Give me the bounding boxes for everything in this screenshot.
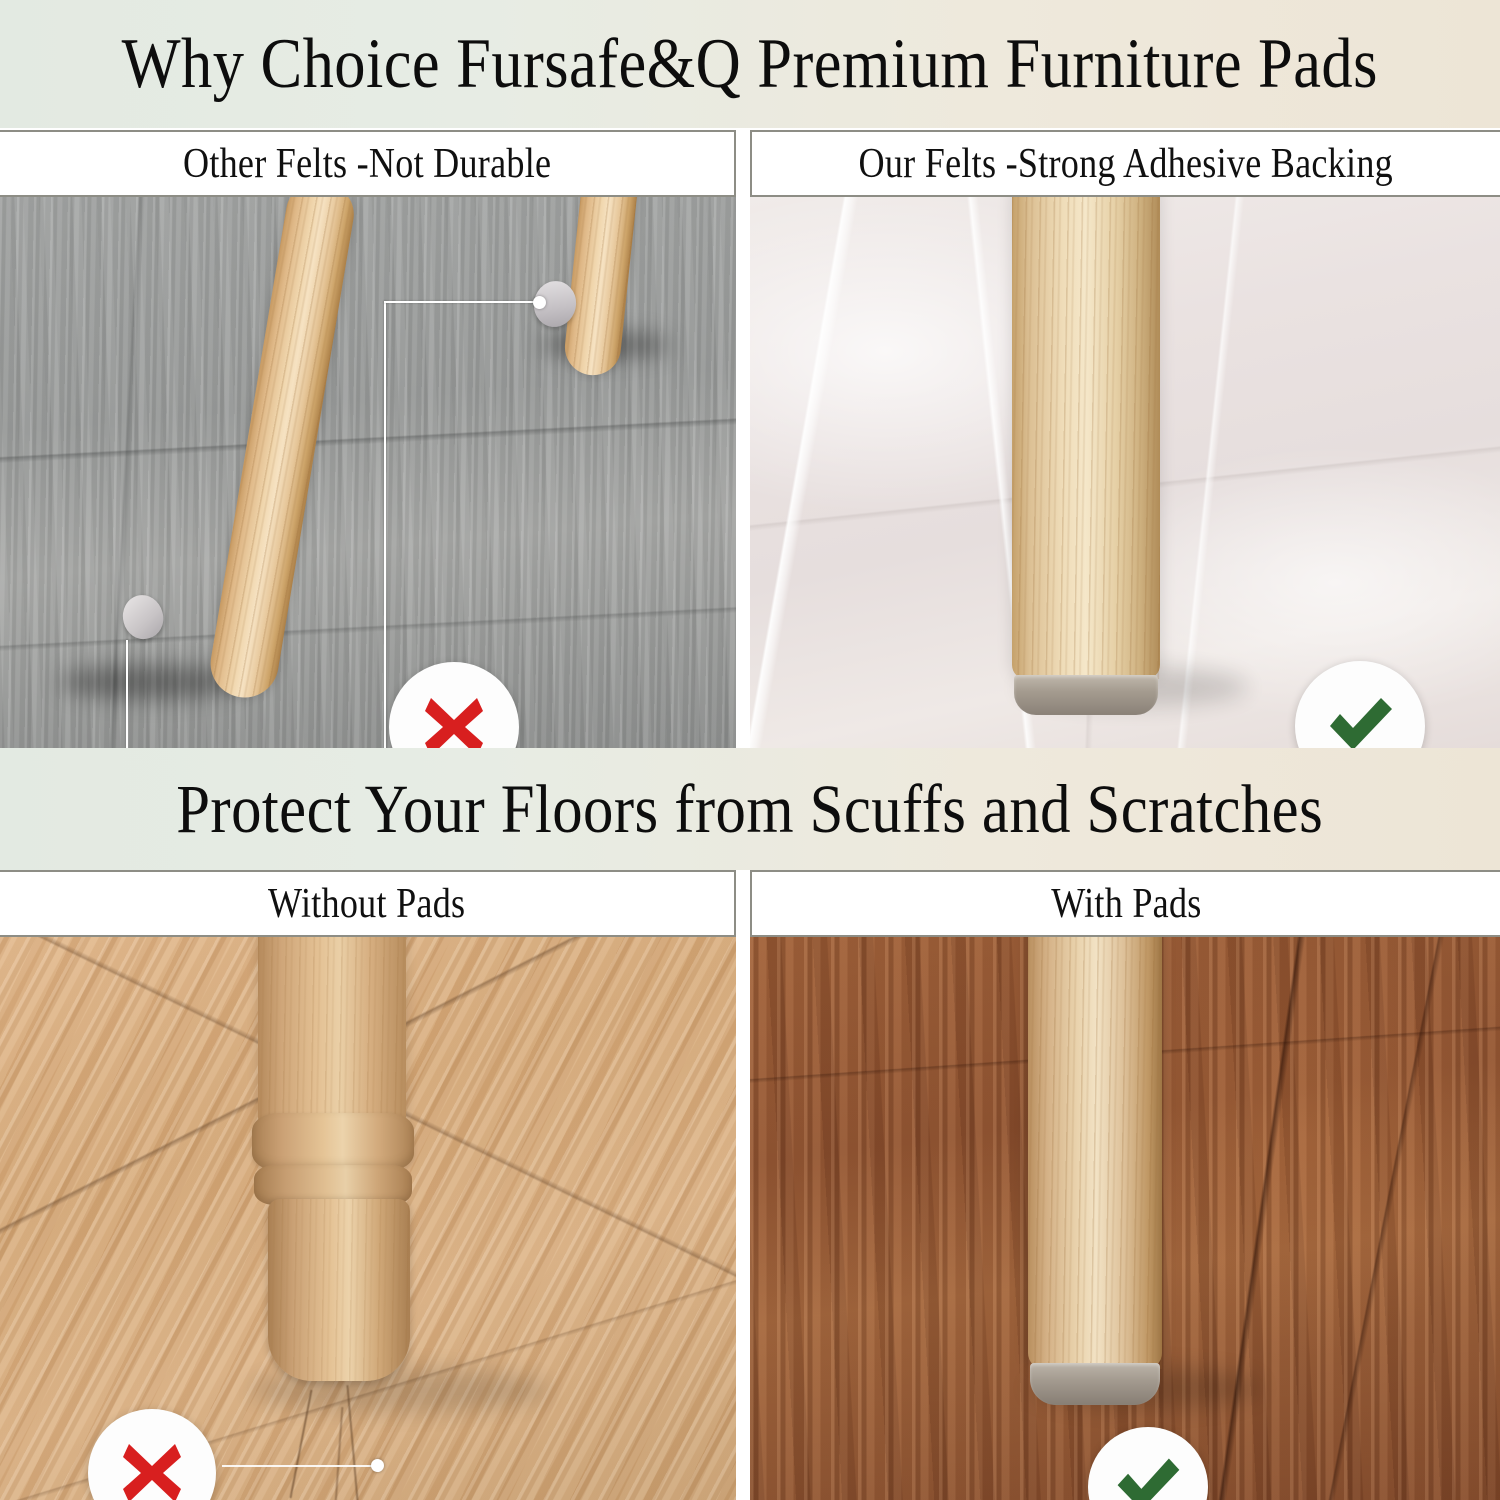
photo-with-pads [750,937,1500,1500]
panel-label-other-felts: Other Felts -Not Durable [0,130,736,197]
cross-icon [115,1436,189,1500]
panel-without-pads: Without Pads [0,870,736,1500]
photo-other-felts [0,197,736,748]
leg-foot [268,1199,410,1381]
leg-upper-shaft [258,937,406,1133]
panel-label-with-pads: With Pads [750,870,1500,937]
leg-wood-grain [258,937,406,1133]
check-icon [1320,686,1400,748]
leg-wood-grain [1028,937,1162,1369]
panel-label-our-felts: Our Felts -Strong Adhesive Backing [750,130,1500,197]
header-band-primary: Why Choice Fursafe&Q Premium Furniture P… [0,0,1500,128]
panel-label-text: Our Felts -Strong Adhesive Backing [859,143,1393,185]
panel-label-without-pads: Without Pads [0,870,736,937]
panel-our-felts: Our Felts -Strong Adhesive Backing [750,130,1500,748]
header-band-secondary: Protect Your Floors from Scuffs and Scra… [0,748,1500,870]
infographic-page: Why Choice Fursafe&Q Premium Furniture P… [0,0,1500,1500]
panel-other-felts: Other Felts -Not Durable [0,130,736,748]
check-icon [1110,1449,1186,1500]
page-title: Why Choice Fursafe&Q Premium Furniture P… [122,29,1378,100]
furniture-leg [1028,937,1162,1369]
furniture-leg [1012,197,1160,679]
photo-our-felts [750,197,1500,748]
photo-without-pads [0,937,736,1500]
leg-wood-grain [1012,197,1160,679]
cross-icon [417,690,491,748]
attached-felt-pad [1030,1363,1160,1405]
attached-felt-pad [1014,675,1158,715]
section-title: Protect Your Floors from Scuffs and Scra… [177,775,1324,844]
leg-carved-collar-upper [252,1113,414,1171]
panel-label-text: Other Felts -Not Durable [183,143,551,185]
leg-wood-grain [268,1199,410,1381]
panel-label-text: With Pads [1051,883,1201,925]
panel-with-pads: With Pads [750,870,1500,1500]
panel-label-text: Without Pads [268,883,465,925]
